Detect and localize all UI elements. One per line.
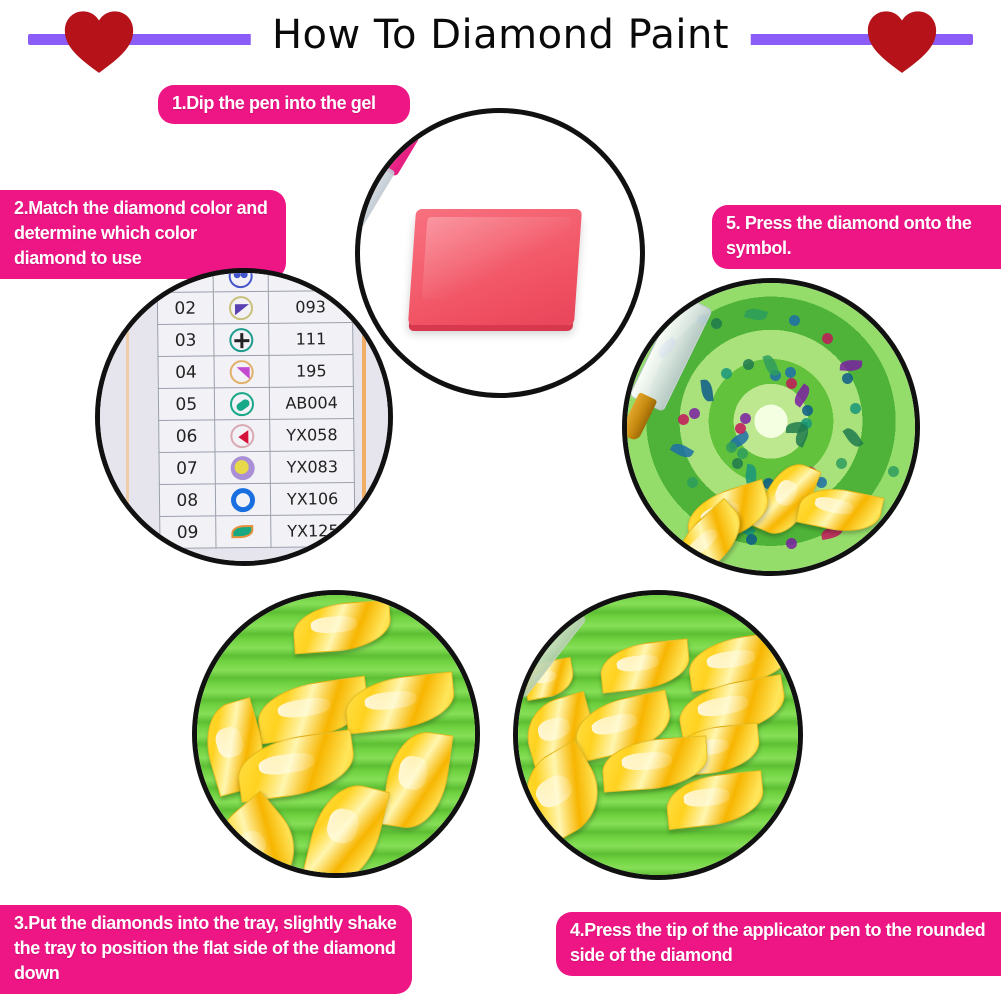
- mosaic-gem: [734, 423, 745, 434]
- chart-cell-filled-circle-symbol: [215, 451, 271, 484]
- chart-cell-plus-symbol: [213, 323, 269, 356]
- chart-cell-code: AB004: [270, 386, 354, 419]
- step-2-label: 2.Match the diamond color and determine …: [0, 190, 286, 279]
- chart-cell-code: YX125: [271, 514, 355, 547]
- chart-cell-code: 195: [269, 354, 353, 387]
- chart-row: 09YX125: [160, 514, 355, 548]
- step-4-photo: [513, 590, 803, 880]
- step-4-label: 4.Press the tip of the applicator pen to…: [556, 912, 1001, 976]
- chart-cell-magenta-triangle-symbol: [214, 355, 270, 388]
- chart-cell-triangle-symbol: [213, 291, 269, 324]
- chart-cell-code: YX106: [271, 482, 355, 515]
- chart-cell-number: 08: [159, 484, 215, 517]
- step-3-photo: [192, 590, 480, 878]
- infographic-canvas: How To Diamond Paint 1.Dip the pen into …: [0, 0, 1001, 1001]
- step-1-photo: [355, 108, 645, 398]
- chart-cell-chevron-left-symbol: [214, 419, 270, 452]
- chart-row: 08YX106: [159, 482, 354, 516]
- chart-row: 05AB004: [158, 386, 353, 420]
- header: How To Diamond Paint: [0, 0, 1001, 72]
- chart-cell-code: 093: [269, 290, 353, 323]
- mosaic-gem: [686, 476, 698, 488]
- chart-cell-number: 05: [158, 388, 214, 421]
- chart-cell-number: 06: [159, 420, 215, 453]
- chart-cell-code: YX058: [270, 418, 354, 451]
- chart-row: 06YX058: [159, 418, 354, 452]
- step-2-photo: 02602093031110419505AB00406YX05807YX0830…: [95, 268, 393, 566]
- chart-cell-number: 07: [159, 452, 215, 485]
- chart-cell-code: YX083: [270, 450, 354, 483]
- chart-row: 03111: [158, 322, 353, 356]
- chart-row: 07YX083: [159, 450, 354, 484]
- step-5-label: 5. Press the diamond onto the symbol.: [712, 205, 1001, 269]
- step-3-label: 3.Put the diamonds into the tray, slight…: [0, 905, 412, 994]
- heart-icon: [865, 8, 939, 74]
- page-title: How To Diamond Paint: [250, 8, 751, 62]
- chart-cell-leaf-symbol: [215, 515, 271, 548]
- chart-cell-number: 09: [160, 516, 216, 549]
- heart-icon: [62, 8, 136, 74]
- chart-cell-number: 02: [157, 292, 213, 325]
- chart-cell-oval-symbol: [214, 387, 270, 420]
- chart-cell-donut-symbol: [215, 483, 271, 516]
- chart-cell-code: 111: [269, 322, 353, 355]
- step-5-photo: [622, 278, 920, 576]
- gel-pad: [408, 209, 582, 325]
- chart-cell-number: 03: [158, 324, 214, 357]
- color-symbol-chart: 02602093031110419505AB00406YX05807YX0830…: [156, 268, 355, 549]
- chart-cell-number: 04: [158, 356, 214, 389]
- chart-row: 04195: [158, 354, 353, 388]
- chart-cell-blue-circle-symbol: [213, 268, 269, 292]
- chart-row: 02093: [157, 290, 352, 324]
